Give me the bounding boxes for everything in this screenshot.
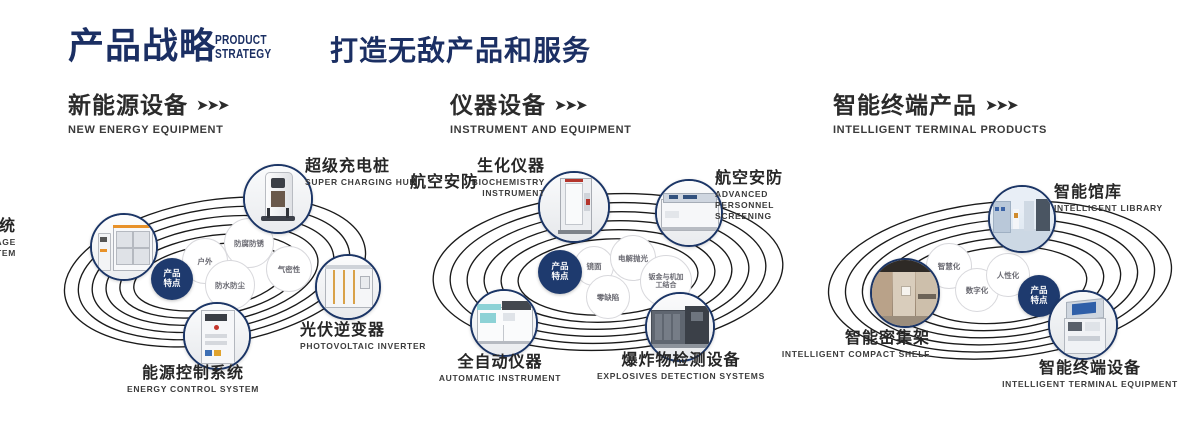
chevron-right-icon: ➤➤➤ [985, 92, 1017, 118]
node-automatic-instrument[interactable] [470, 289, 538, 357]
node-super-charging-hub[interactable] [243, 164, 313, 234]
core-bubble-product-features: 产品 特点 [538, 250, 582, 294]
core-bubble-product-features: 产品 特点 [151, 258, 193, 300]
section-header-intelligent-terminal: 智能终端产品➤➤➤ INTELLIGENT TERMINAL PRODUCTS [833, 92, 1047, 136]
label-aviation-security-overlay: 航空安防 [410, 172, 478, 191]
node-energy-control-system[interactable] [183, 302, 251, 370]
node-intelligent-compact-shelf[interactable] [870, 258, 940, 328]
label-intelligent-compact-shelf: 智能密集架 INTELLIGENT COMPACT SHELF [730, 328, 930, 360]
node-photovoltaic-inverter[interactable] [315, 254, 381, 320]
node-energy-storage-system[interactable] [90, 213, 158, 281]
feature-bubble: 零缺陷 [586, 275, 630, 319]
section-title-en: INTELLIGENT TERMINAL PRODUCTS [833, 124, 1047, 136]
section-title-cn: 仪器设备➤➤➤ [450, 92, 631, 119]
panel-new-energy: 户外 防腐防锈 防水防尘 气密性 产品 特点 [0, 150, 420, 422]
panel-instrument: 镜面 电解抛光 钣金与机加工结合 零缺陷 产品 特点 [400, 150, 820, 422]
chevron-right-icon: ➤➤➤ [196, 92, 228, 118]
section-title-en: INSTRUMENT AND EQUIPMENT [450, 124, 631, 136]
section-title-cn: 智能终端产品➤➤➤ [833, 92, 1047, 119]
core-bubble-line1: 产品 [1030, 286, 1047, 296]
page-title-english: PRODUCT STRATEGY [215, 33, 271, 61]
node-intelligent-terminal-equipment[interactable] [1048, 290, 1118, 360]
core-bubble-line2: 特点 [1030, 296, 1047, 306]
section-title-cn: 新能源设备➤➤➤ [68, 92, 228, 119]
panel-intelligent-terminal: 智慧化 数字化 人性化 产品 特点 [800, 150, 1200, 422]
core-bubble-line2: 特点 [163, 279, 180, 289]
product-strategy-infographic: 产品战略 PRODUCT STRATEGY 打造无敌产品和服务 新能源设备➤➤➤… [0, 0, 1200, 422]
node-biochemistry-instrument[interactable] [538, 171, 610, 243]
label-intelligent-terminal-equipment: 智能终端设备 INTELLIGENT TERMINAL EQUIPMENT [980, 358, 1200, 390]
page-slogan: 打造无敌产品和服务 [330, 34, 591, 68]
section-header-instrument: 仪器设备➤➤➤ INSTRUMENT AND EQUIPMENT [450, 92, 631, 136]
header: 产品战略 PRODUCT STRATEGY 打造无敌产品和服务 [0, 0, 1200, 86]
core-bubble-line1: 产品 [163, 269, 180, 279]
chevron-right-icon: ➤➤➤ [554, 92, 586, 118]
page-title-english-line2: STRATEGY [215, 47, 271, 61]
label-energy-control-system: 能源控制系统 ENERGY CONTROL SYSTEM [78, 363, 308, 395]
node-advanced-personnel-screening[interactable] [655, 179, 723, 247]
section-title-en: NEW ENERGY EQUIPMENT [68, 124, 228, 136]
feature-bubble: 气密性 [266, 246, 312, 292]
label-energy-storage-system: 储能系统 ENERGY STORAGE SYSTEM [0, 216, 16, 259]
page-title-english-line1: PRODUCT [215, 33, 271, 47]
label-automatic-instrument: 全自动仪器 AUTOMATIC INSTRUMENT [390, 352, 610, 384]
core-bubble-line2: 特点 [551, 272, 568, 282]
page-title: 产品战略 [68, 26, 216, 68]
section-header-new-energy: 新能源设备➤➤➤ NEW ENERGY EQUIPMENT [68, 92, 228, 136]
label-intelligent-library: 智能馆库 INTELLIGENT LIBRARY [1054, 182, 1163, 214]
node-intelligent-library[interactable] [988, 185, 1056, 253]
core-bubble-line1: 产品 [551, 262, 568, 272]
